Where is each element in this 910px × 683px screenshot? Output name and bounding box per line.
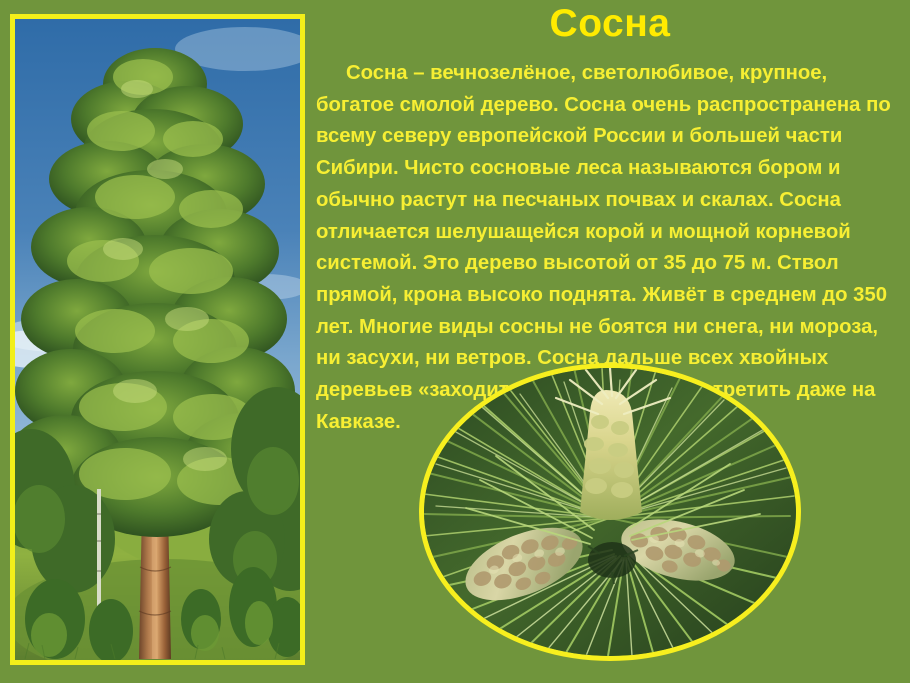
tall-pine-tree-photo (10, 14, 305, 665)
tall-pine-tree-image (15, 19, 300, 660)
pine-cones-image (424, 368, 796, 656)
slide-root: Сосна Сосна – вечнозелёное, светолюбивое… (0, 0, 910, 683)
pine-cones-illustration (424, 368, 796, 656)
pine-cones-closeup-photo (419, 363, 801, 661)
tall-pine-tree-illustration (15, 19, 300, 660)
page-title: Сосна (310, 4, 910, 45)
